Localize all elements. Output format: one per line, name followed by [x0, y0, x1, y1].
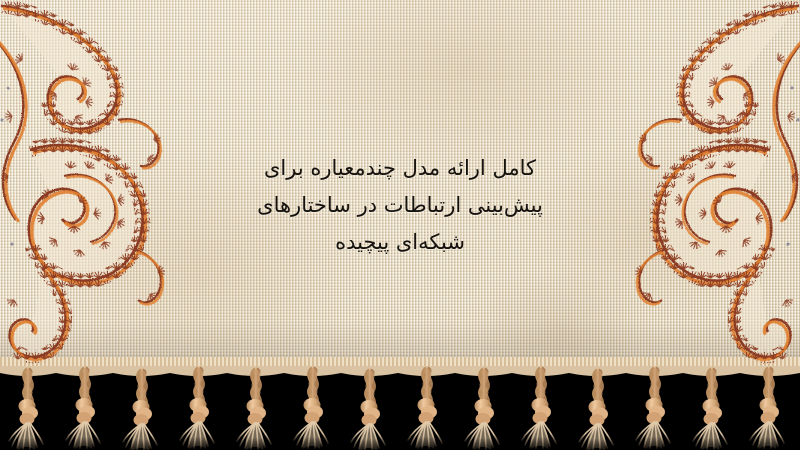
title-line-1: کامل ارائه مدل چندمعیاره برای [200, 150, 600, 187]
title-line-2: پیش‌بینی ارتباطات در ساختارهای [200, 187, 600, 224]
slide-title: کامل ارائه مدل چندمعیاره برای پیش‌بینی ا… [200, 150, 600, 261]
fabric-selvedge [0, 357, 800, 373]
slide-canvas: کامل ارائه مدل چندمعیاره برای پیش‌بینی ا… [0, 0, 800, 450]
title-line-3: شبکه‌ای پیچیده [200, 224, 600, 261]
tassel-fringe [0, 366, 800, 450]
